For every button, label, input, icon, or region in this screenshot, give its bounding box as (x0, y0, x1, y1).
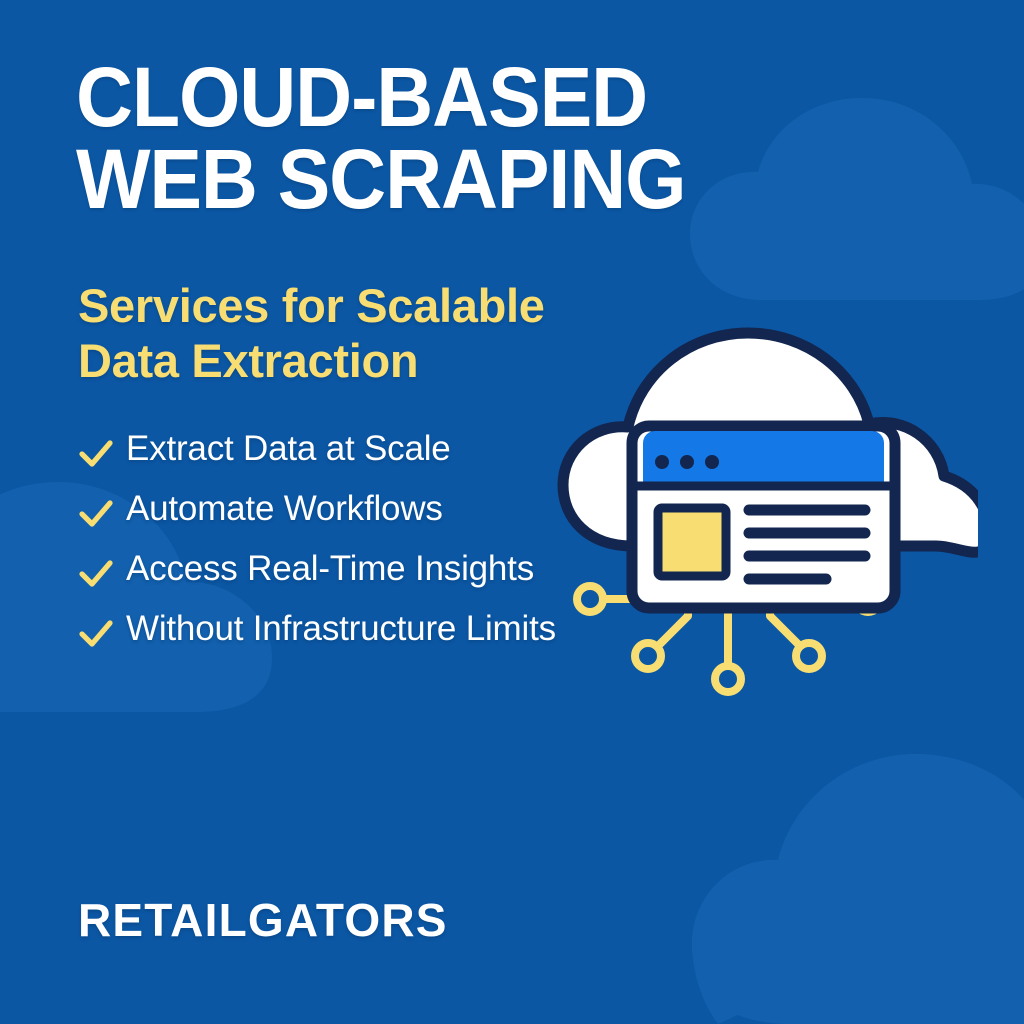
list-item-label: Extract Data at Scale (126, 428, 451, 469)
brand-name: RETAILGATORS (78, 893, 448, 947)
list-item-label: Access Real-Time Insights (126, 548, 534, 589)
image-placeholder-block (658, 508, 726, 576)
circuit-node (715, 666, 741, 692)
titlebar-dot (655, 455, 669, 469)
check-icon (76, 494, 116, 534)
titlebar-dot (680, 455, 694, 469)
benefits-list: Extract Data at Scale Automate Workflows… (76, 428, 636, 668)
list-item-label: Without Infrastructure Limits (126, 608, 556, 649)
list-item-label: Automate Workflows (126, 488, 443, 529)
list-item: Without Infrastructure Limits (76, 608, 636, 654)
list-item: Access Real-Time Insights (76, 548, 636, 594)
subheading-line-1: Services for Scalable (78, 278, 638, 333)
subheading-line-2: Data Extraction (78, 333, 638, 388)
poster-canvas: CLOUD-BASED WEB SCRAPING Services for Sc… (0, 0, 1024, 1024)
browser-window-icon (632, 426, 895, 608)
circuit-node (635, 643, 661, 669)
headline-line-2: WEB SCRAPING (76, 138, 828, 220)
page-subtitle: Services for Scalable Data Extraction (78, 278, 638, 389)
circuit-node (796, 643, 822, 669)
headline-line-1: CLOUD-BASED (76, 56, 828, 138)
list-item: Extract Data at Scale (76, 428, 636, 474)
titlebar-dot (705, 455, 719, 469)
check-icon (76, 614, 116, 654)
bg-cloud-bottom-right (692, 754, 1024, 1024)
list-item: Automate Workflows (76, 488, 636, 534)
check-icon (76, 434, 116, 474)
bg-band-top-right (852, 206, 1024, 290)
page-title: CLOUD-BASED WEB SCRAPING (76, 56, 876, 221)
titlebar-dots (655, 455, 719, 469)
check-icon (76, 554, 116, 594)
